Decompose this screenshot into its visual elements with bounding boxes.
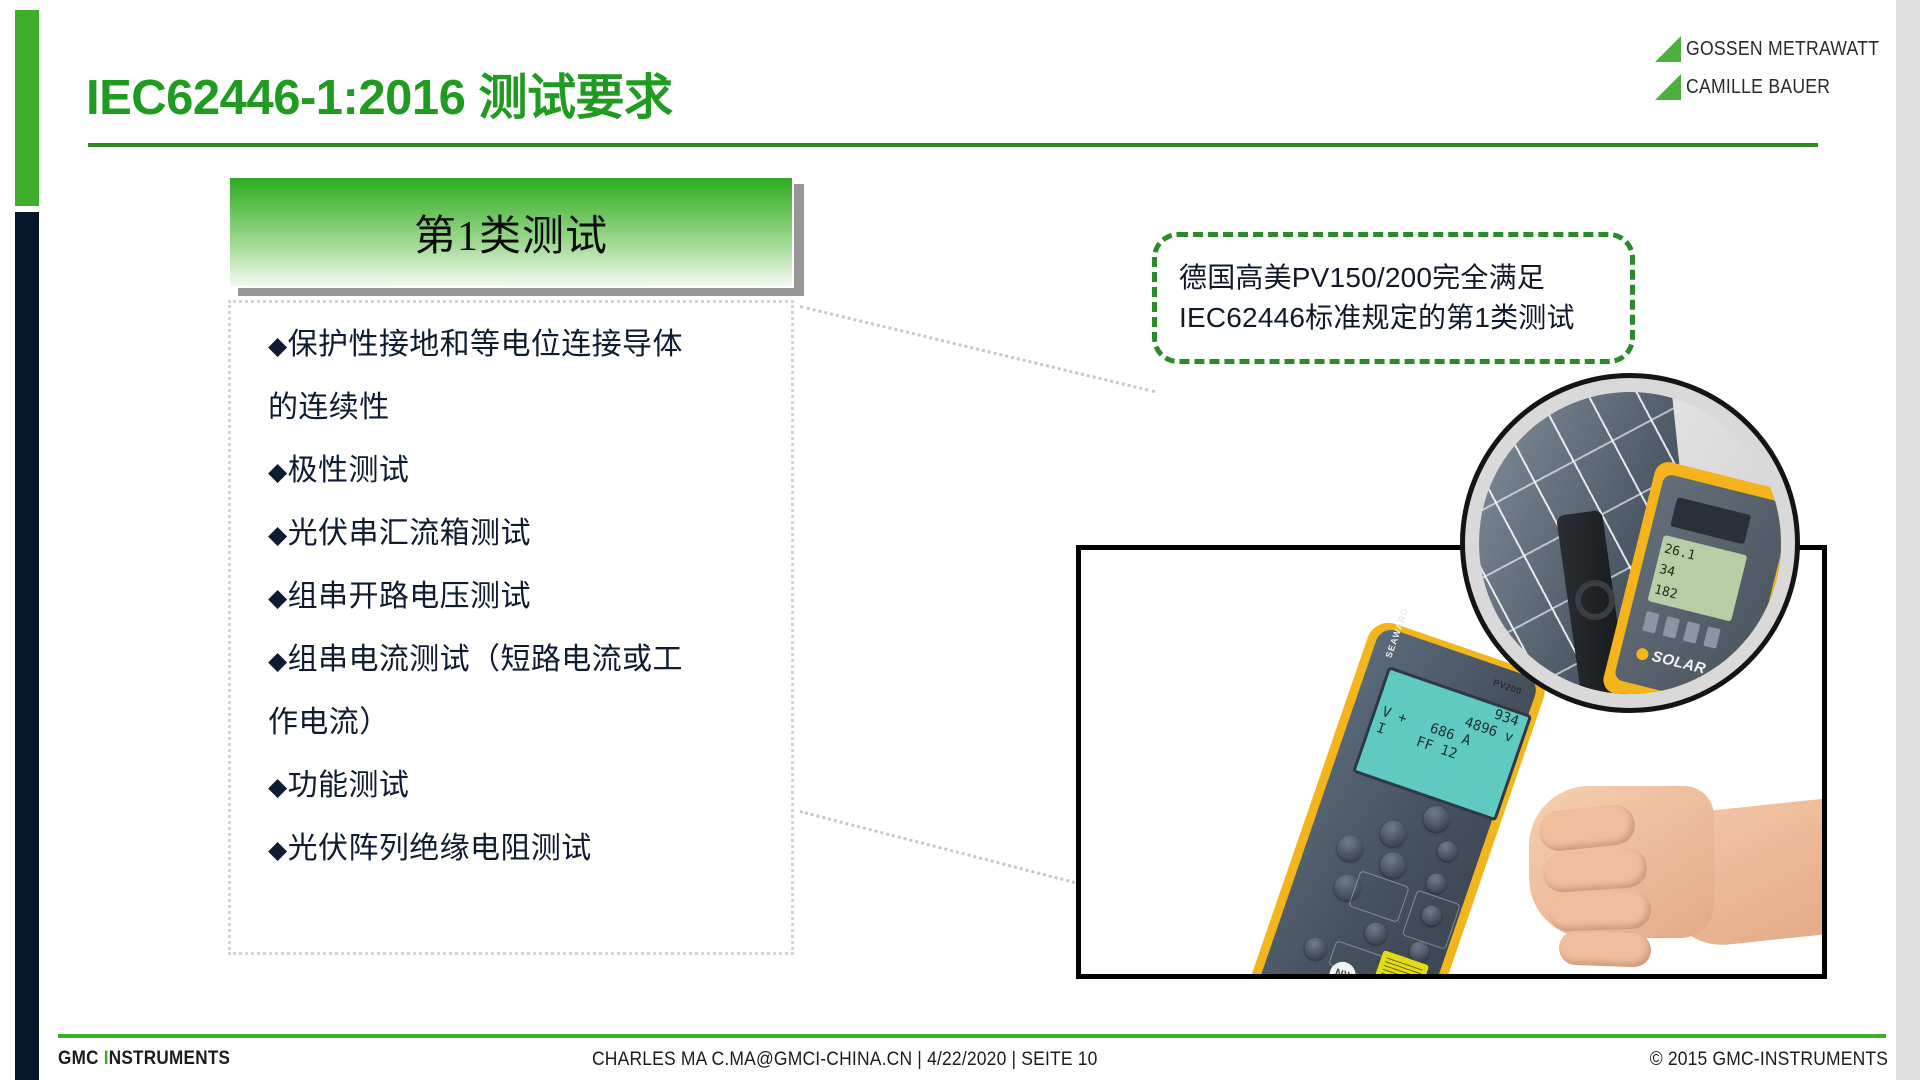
footer-divider <box>58 1034 1886 1038</box>
list-item: 作电流） <box>268 692 788 755</box>
footer-center-text: CHARLES MA C.MA@GMCI-CHINA.CN | 4/22/202… <box>592 1049 1098 1071</box>
finger <box>1558 930 1651 967</box>
keypad-key[interactable] <box>1302 935 1330 963</box>
list-item-label: 功能测试 <box>288 769 410 802</box>
inset-photo-content: 26.1 34 182 SOLAR <box>1479 392 1781 694</box>
meter-button[interactable] <box>1683 621 1700 644</box>
finger <box>1548 890 1651 932</box>
diamond-bullet-icon: ◆ <box>268 458 288 486</box>
brand-logo-line1: GOSSEN METRAWATT <box>1686 38 1879 61</box>
list-item: ◆组串电流测试（短路电流或工 <box>268 629 788 692</box>
list-item-label: 光伏串汇流箱测试 <box>288 517 531 550</box>
list-item-label: 组串开路电压测试 <box>288 580 531 613</box>
category-header-label: 第1类测试 <box>414 202 608 263</box>
keypad-key[interactable] <box>1420 802 1453 835</box>
keypad-key[interactable] <box>1334 832 1367 865</box>
list-item-label: 作电流） <box>268 706 390 739</box>
meter-brand-row: SOLAR <box>1635 644 1708 678</box>
diamond-bullet-icon: ◆ <box>268 332 288 360</box>
list-item-label: 光伏阵列绝缘电阻测试 <box>288 832 592 865</box>
diamond-bullet-icon: ◆ <box>268 773 288 801</box>
meter-button[interactable] <box>1663 616 1680 639</box>
meter-brand-label: SOLAR <box>1650 648 1707 678</box>
list-item-label: 极性测试 <box>288 454 410 487</box>
list-item: 的连续性 <box>268 377 788 440</box>
list-item: ◆保护性接地和等电位连接导体 <box>268 314 788 377</box>
callout-line-2: IEC62446标准规定的第1类测试 <box>1179 298 1608 338</box>
triangle-icon <box>1655 74 1681 100</box>
keypad-key[interactable] <box>1435 839 1460 864</box>
connector-leader-top <box>800 305 1156 393</box>
list-item: ◆光伏串汇流箱测试 <box>268 503 788 566</box>
brand-logo: GOSSEN METRAWATT CAMILLE BAUER <box>1655 30 1895 106</box>
keypad-plate <box>1348 870 1410 923</box>
page-title: IEC62446-1:2016 测试要求 <box>86 58 672 129</box>
diamond-bullet-icon: ◆ <box>268 647 288 675</box>
diamond-bullet-icon: ◆ <box>268 584 288 612</box>
keypad-key[interactable] <box>1377 817 1410 850</box>
diamond-bullet-icon: ◆ <box>268 836 288 864</box>
list-item-label: 保护性接地和等电位连接导体 <box>288 328 683 361</box>
brand-logo-line2: CAMILLE BAUER <box>1686 76 1830 99</box>
list-item: ◆组串开路电压测试 <box>268 566 788 629</box>
title-divider <box>88 143 1818 147</box>
list-item-label: 组串电流测试（短路电流或工 <box>288 643 683 676</box>
list-item: ◆功能测试 <box>268 755 788 818</box>
footer-brand: GMC INSTRUMENTS <box>58 1048 230 1070</box>
callout-box: 德国高美PV150/200完全满足 IEC62446标准规定的第1类测试 <box>1152 232 1635 364</box>
sun-icon <box>1635 646 1650 661</box>
inset-photo-circle: 26.1 34 182 SOLAR <box>1460 373 1800 713</box>
left-accent-bar-green <box>15 10 39 206</box>
hand-illustration <box>1521 746 1821 979</box>
vertical-scrollbar[interactable] <box>1896 0 1920 1080</box>
finger <box>1542 846 1649 893</box>
meter-button[interactable] <box>1703 626 1720 649</box>
connector-leader-bottom <box>800 810 1086 887</box>
footer-copyright: © 2015 GMC-INSTRUMENTS <box>1650 1049 1888 1071</box>
list-item: ◆光伏阵列绝缘电阻测试 <box>268 818 788 881</box>
meter-top-slot <box>1670 497 1751 544</box>
triangle-icon <box>1655 36 1681 62</box>
callout-line-1: 德国高美PV150/200完全满足 <box>1179 258 1608 298</box>
brand-logo-row-gossen: GOSSEN METRAWATT <box>1655 30 1895 68</box>
keypad-key[interactable] <box>1362 919 1390 947</box>
brand-logo-row-camille: CAMILLE BAUER <box>1655 68 1895 106</box>
meter-button[interactable] <box>1642 611 1659 634</box>
footer-brand-suffix: NSTRUMENTS <box>109 1048 230 1069</box>
category-header-box: 第1类测试 <box>228 176 794 288</box>
meter-lcd-screen: 26.1 34 182 <box>1647 535 1747 622</box>
list-item: ◆极性测试 <box>268 440 788 503</box>
bullet-list: ◆保护性接地和等电位连接导体 的连续性 ◆极性测试 ◆光伏串汇流箱测试 ◆组串开… <box>268 314 788 881</box>
diamond-bullet-icon: ◆ <box>268 521 288 549</box>
clamp-ring-illustration <box>1575 580 1615 620</box>
list-item-label: 的连续性 <box>268 391 390 424</box>
finger <box>1537 803 1637 853</box>
left-accent-bar-dark <box>15 212 39 1080</box>
lcd-label-i: I <box>1374 720 1387 738</box>
footer-brand-prefix: GMC <box>58 1048 104 1069</box>
